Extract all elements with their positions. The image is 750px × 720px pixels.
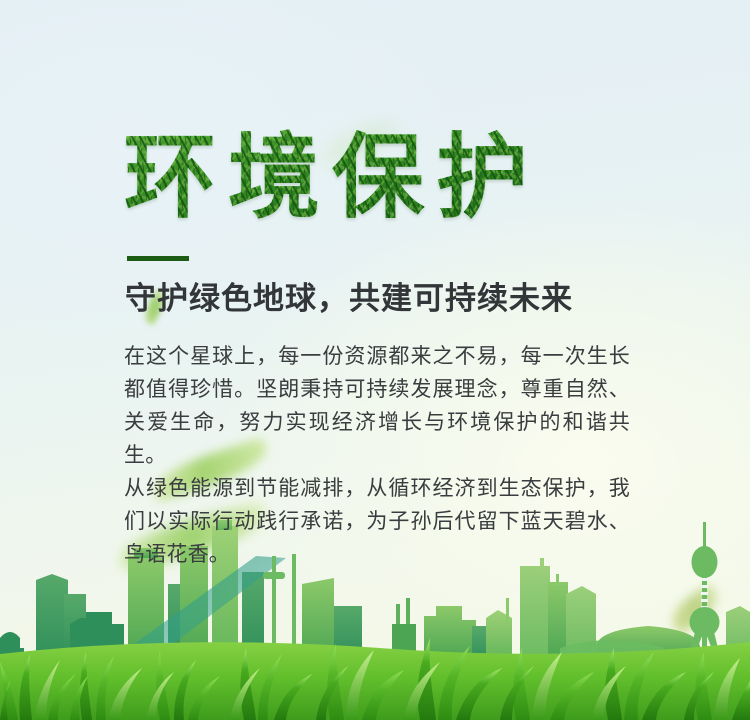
grass-tuft <box>404 638 502 720</box>
grass-blades <box>0 634 750 720</box>
grass-tuft <box>500 648 594 720</box>
grass-tuft <box>146 650 220 720</box>
page-title: 环境保护 <box>124 128 540 228</box>
page-subtitle: 守护绿色地球，共建可持续未来 <box>125 279 573 319</box>
accent-rule <box>127 256 189 261</box>
grass-tuft <box>230 648 312 720</box>
grass-tuft <box>684 652 750 720</box>
grass-tuft <box>0 654 76 720</box>
grass-tuft <box>316 644 404 720</box>
grass-tuft <box>70 652 142 720</box>
grass-tuft <box>592 648 686 720</box>
body-paragraph: 从绿色能源到节能减排，从循环经济到生态保护，我们以实际行动践行承诺，为子孙后代留… <box>124 472 630 571</box>
environment-poster: 环境保护 守护绿色地球，共建可持续未来 在这个星球上，每一份资源都来之不易，每一… <box>0 0 750 720</box>
body-paragraph: 在这个星球上，每一份资源都来之不易，每一次生长都值得珍惜。坚朗秉持可持续发展理念… <box>124 340 630 472</box>
